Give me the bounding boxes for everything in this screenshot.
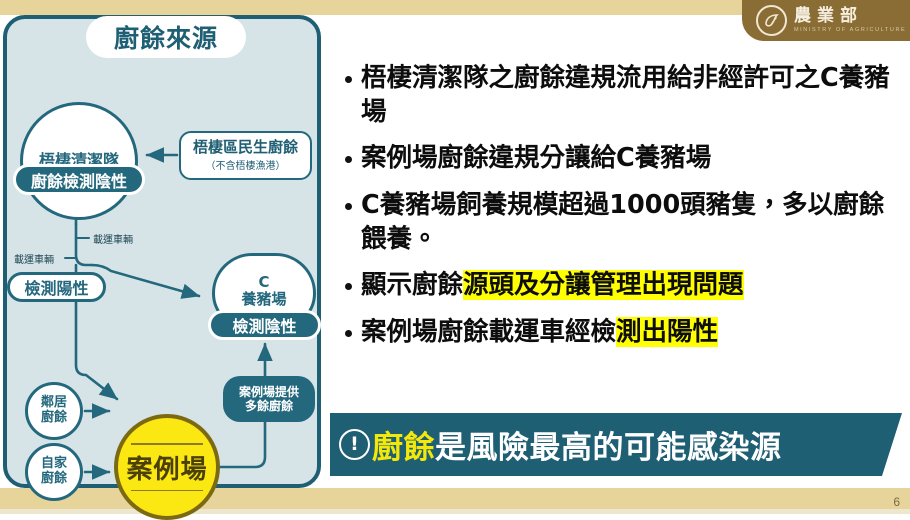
badge-c-pig-farm-negative-label: 檢測陰性 <box>232 313 296 337</box>
bullet-text: 顯示廚餘源頭及分讓管理出現問題 <box>361 269 744 303</box>
node-extra-waste-supply-line1: 案例場提供 <box>239 385 299 399</box>
node-residential-waste-label: 梧棲區民生廚餘 <box>193 139 298 156</box>
node-neighbor-waste-line2: 廚餘 <box>41 411 67 426</box>
node-c-pig-farm-label-bottom: 養豬場 <box>241 291 286 308</box>
exclamation-circle-icon: ! <box>339 429 370 460</box>
bullet-item: 顯示廚餘源頭及分讓管理出現問題 <box>345 269 897 303</box>
bullet-dot-icon <box>345 156 352 163</box>
node-extra-waste-supply-line2: 多餘廚餘 <box>245 399 293 413</box>
page-number: 6 <box>893 495 900 509</box>
conclusion-highlight-word: 廚餘 <box>372 430 435 466</box>
slide-root: 農業部 MINISTRY OF AGRICULTURE 廚餘來源 <box>0 0 910 514</box>
node-cleaning-team[interactable]: 梧棲清潔隊 <box>20 102 138 220</box>
badge-transport-positive[interactable]: 檢測陽性 <box>7 272 106 302</box>
diagram-panel: 廚餘來源 <box>3 15 321 488</box>
badge-transport-positive-label: 檢測陽性 <box>24 275 88 299</box>
node-extra-waste-supply[interactable]: 案例場提供 多餘廚餘 <box>223 376 315 422</box>
bullet-text: 案例場廚餘違規分讓給C養豬場 <box>361 142 711 176</box>
ministry-seal-icon <box>756 5 787 36</box>
case-farm-rule-bottom <box>131 490 203 492</box>
bullet-dot-icon <box>345 203 352 210</box>
edge-label-transport-2: 載運車輛 <box>14 251 54 266</box>
node-own-waste-line2: 廚餘 <box>41 472 67 487</box>
conclusion-banner-content: ! 廚餘是風險最高的可能感染源 <box>330 413 902 476</box>
bullet-dot-icon <box>345 330 352 337</box>
node-own-waste-line1: 自家 <box>41 457 67 472</box>
bullet-text: C養豬場飼養規模超過1000頭豬隻，多以廚餘餵養。 <box>361 189 897 256</box>
node-c-pig-farm-label-top: C <box>241 274 286 291</box>
node-neighbor-waste-line1: 鄰居 <box>41 396 67 411</box>
conclusion-rest-text: 是風險最高的可能感染源 <box>435 430 782 466</box>
node-residential-waste-sub: （不含梧棲漁港） <box>206 157 286 172</box>
edge-label-transport-1: 載運車輛 <box>93 231 133 246</box>
ministry-name-en: MINISTRY OF AGRICULTURE <box>794 28 906 34</box>
bullet-highlight: 測出陽性 <box>616 317 718 347</box>
bullet-item: 梧棲清潔隊之廚餘違規流用給非經許可之C養豬場 <box>345 62 897 129</box>
node-case-farm[interactable]: 案例場 <box>114 414 220 520</box>
badge-c-pig-farm-negative[interactable]: 檢測陰性 <box>208 310 321 340</box>
bullet-highlight: 源頭及分讓管理出現問題 <box>463 270 744 300</box>
bullet-text: 案例場廚餘載運車經檢測出陽性 <box>361 316 718 350</box>
badge-cleaning-team-negative-label: 廚餘檢測陰性 <box>31 168 127 192</box>
bullet-dot-icon <box>345 76 352 83</box>
node-case-farm-label: 案例場 <box>126 449 207 486</box>
conclusion-banner-text: 廚餘是風險最高的可能感染源 <box>372 422 782 467</box>
bullet-item: 案例場廚餘違規分讓給C養豬場 <box>345 142 897 176</box>
bullet-text: 梧棲清潔隊之廚餘違規流用給非經許可之C養豬場 <box>361 62 897 129</box>
ministry-logo: 農業部 MINISTRY OF AGRICULTURE <box>742 0 910 41</box>
node-residential-waste[interactable]: 梧棲區民生廚餘 （不含梧棲漁港） <box>179 131 312 180</box>
node-own-waste[interactable]: 自家 廚餘 <box>25 443 83 501</box>
ministry-name-cn: 農業部 <box>794 8 906 25</box>
badge-cleaning-team-negative[interactable]: 廚餘檢測陰性 <box>13 164 145 195</box>
node-neighbor-waste[interactable]: 鄰居 廚餘 <box>25 382 83 440</box>
bullet-item: 案例場廚餘載運車經檢測出陽性 <box>345 316 897 350</box>
ministry-logo-text: 農業部 MINISTRY OF AGRICULTURE <box>794 8 906 34</box>
conclusion-banner: ! 廚餘是風險最高的可能感染源 <box>330 413 902 476</box>
case-farm-rule-top <box>131 443 203 445</box>
bullet-item: C養豬場飼養規模超過1000頭豬隻，多以廚餘餵養。 <box>345 189 897 256</box>
bullet-list: 梧棲清潔隊之廚餘違規流用給非經許可之C養豬場 案例場廚餘違規分讓給C養豬場 C養… <box>345 62 897 363</box>
bullet-dot-icon <box>345 283 352 290</box>
